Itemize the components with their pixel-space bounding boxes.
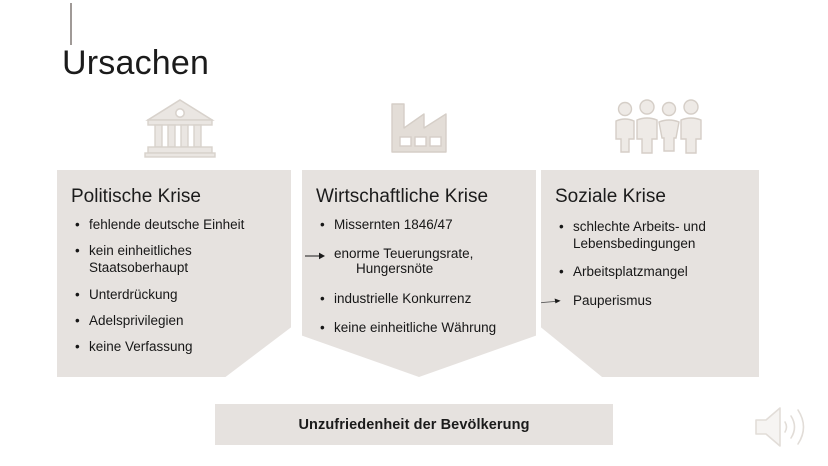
list-item-continuation: Hungersnöte	[334, 260, 522, 277]
list-item: • fehlende deutsche Einheit	[71, 216, 277, 233]
bullet-dot: •	[75, 242, 80, 259]
box-heading: Politische Krise	[71, 186, 277, 208]
factory-icon	[350, 92, 490, 164]
bullet-list: • fehlende deutsche Einheit • kein einhe…	[71, 216, 277, 356]
bullet-dot: •	[75, 216, 80, 233]
slide-canvas: Ursachen	[0, 0, 828, 466]
list-item: • keine einheitliche Währung	[316, 319, 522, 336]
crisis-box-wirtschaftliche-krise: Wirtschaftliche Krise • Missernten 1846/…	[302, 170, 536, 377]
list-item: • Adelsprivilegien	[71, 312, 277, 329]
list-item-label: Adelsprivilegien	[89, 313, 184, 328]
people-group-icon	[583, 92, 733, 164]
list-item: • Unterdrückung	[71, 286, 277, 303]
result-banner-label: Unzufriedenheit der Bevölkerung	[298, 417, 529, 433]
speaker-volume-icon[interactable]	[750, 402, 812, 452]
bullet-dot: •	[75, 338, 80, 355]
list-item-label: industrielle Konkurrenz	[334, 291, 471, 306]
bullet-dot: •	[559, 263, 564, 280]
page-title: Ursachen	[62, 45, 209, 82]
bullet-dot: •	[320, 290, 325, 307]
list-item-label: fehlende deutsche Einheit	[89, 217, 244, 232]
box-heading: Soziale Krise	[555, 186, 745, 208]
list-item-label: Arbeitsplatzmangel	[573, 264, 688, 279]
list-item: • Missernten 1846/47	[316, 216, 522, 233]
list-item-label: Pauperismus	[573, 293, 652, 308]
list-item-label: keine Verfassung	[89, 339, 193, 354]
list-item: • schlechte Arbeits- und Lebensbedingung…	[555, 218, 745, 253]
list-item-label: kein einheitliches Staatsoberhaupt	[89, 243, 192, 275]
box-heading: Wirtschaftliche Krise	[316, 186, 522, 208]
arrow-right-icon	[304, 251, 330, 260]
list-item-label: Unterdrückung	[89, 287, 178, 302]
result-banner: Unzufriedenheit der Bevölkerung	[215, 404, 613, 445]
bullet-dot: •	[75, 286, 80, 303]
bullet-list: • schlechte Arbeits- und Lebensbedingung…	[555, 218, 745, 309]
list-item: • industrielle Konkurrenz	[316, 290, 522, 307]
bank-building-icon	[110, 92, 250, 164]
bullet-dot: •	[320, 319, 325, 336]
bullet-dot: •	[75, 312, 80, 329]
list-item: • kein einheitliches Staatsoberhaupt	[71, 242, 277, 277]
bullet-dot: •	[320, 216, 325, 233]
list-item-label: schlechte Arbeits- und Lebensbedingungen	[573, 219, 706, 251]
crisis-box-politische-krise: Politische Krise • fehlende deutsche Ein…	[57, 170, 291, 377]
list-item-label: keine einheitliche Währung	[334, 320, 496, 335]
list-item: Pauperismus	[555, 292, 745, 309]
icon-row	[0, 92, 828, 164]
bullet-list: • Missernten 1846/47 enorme Teuerungsrat…	[316, 216, 522, 336]
arrow-right-icon	[539, 297, 565, 306]
crisis-box-soziale-krise: Soziale Krise • schlechte Arbeits- und L…	[541, 170, 759, 377]
bullet-dot: •	[559, 218, 564, 235]
list-item: • keine Verfassung	[71, 338, 277, 355]
title-accent-rule	[70, 3, 72, 45]
list-item: enorme Teuerungsrate, Hungersnöte	[316, 245, 522, 278]
list-item-label: Missernten 1846/47	[334, 217, 453, 232]
list-item-label: enorme Teuerungsrate,	[334, 246, 473, 261]
list-item: • Arbeitsplatzmangel	[555, 263, 745, 280]
